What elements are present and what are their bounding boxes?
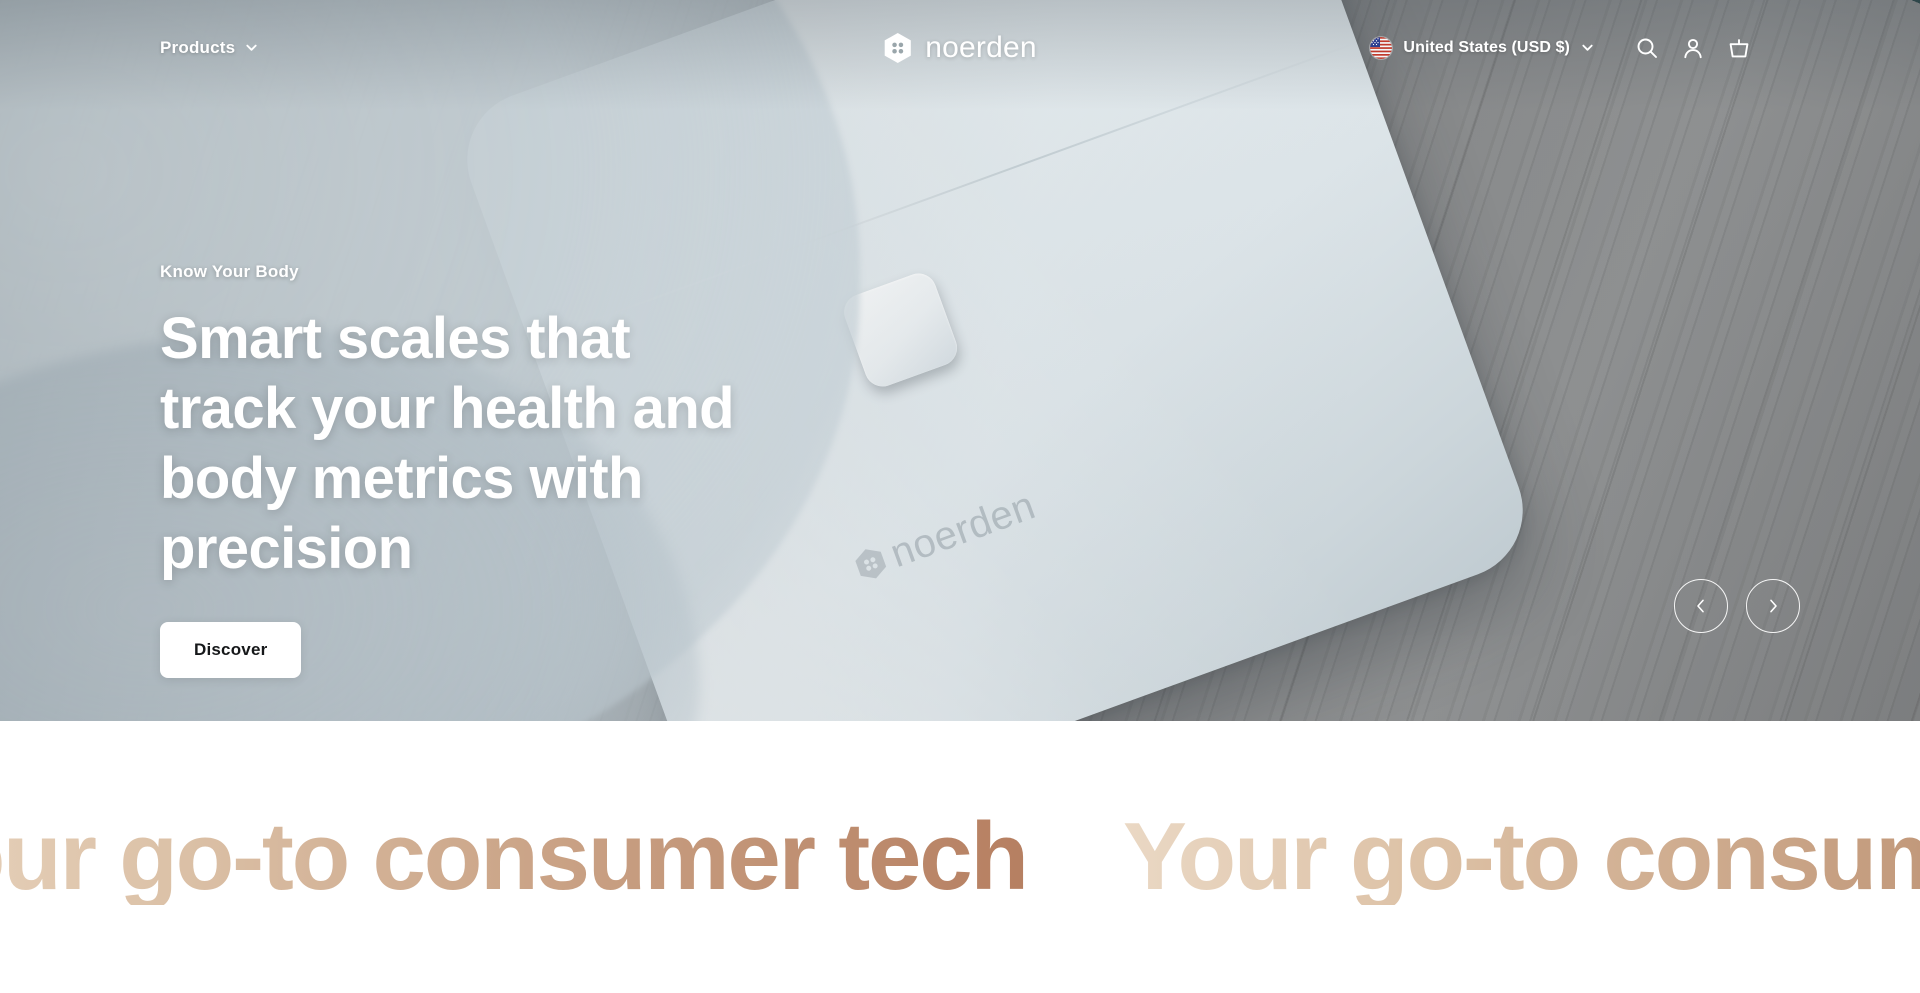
discover-button[interactable]: Discover [160,622,301,678]
header-actions: United States (USD $) [1370,0,1762,95]
nav-item-products[interactable]: Products [160,38,258,58]
primary-nav: Products [160,0,258,95]
search-icon[interactable] [1624,25,1670,71]
hero-eyebrow: Know Your Body [160,262,880,282]
hero-title: Smart scales that track your health and … [160,304,740,584]
site-header: Products noerden [0,0,1920,95]
page-root: noerden Products [0,0,1920,993]
noerden-hexagon-icon [883,32,912,64]
site-logo[interactable]: noerden [883,0,1037,95]
hero-banner: noerden Products [0,0,1920,721]
cart-icon[interactable] [1716,25,1762,71]
locale-label: United States (USD $) [1403,39,1570,57]
carousel-controls [1674,579,1800,633]
marquee-banner: Your go-to consumer tech Your go-to cons… [0,721,1920,993]
locale-selector[interactable]: United States (USD $) [1370,37,1594,59]
chevron-right-icon [1765,598,1781,614]
carousel-prev-button[interactable] [1674,579,1728,633]
chevron-left-icon [1693,598,1709,614]
chevron-down-icon [245,41,258,54]
marquee-track: Your go-to consumer tech Your go-to cons… [0,809,1920,905]
nav-item-products-label: Products [160,38,235,58]
chevron-down-icon [1581,41,1594,54]
carousel-next-button[interactable] [1746,579,1800,633]
marquee-item: Your go-to consumer tech [1123,809,1920,905]
site-logo-wordmark: noerden [925,31,1037,65]
hero-content: Know Your Body Smart scales that track y… [160,262,880,678]
account-icon[interactable] [1670,25,1716,71]
marquee-item: Your go-to consumer tech [0,809,1123,905]
us-flag-icon [1370,37,1392,59]
